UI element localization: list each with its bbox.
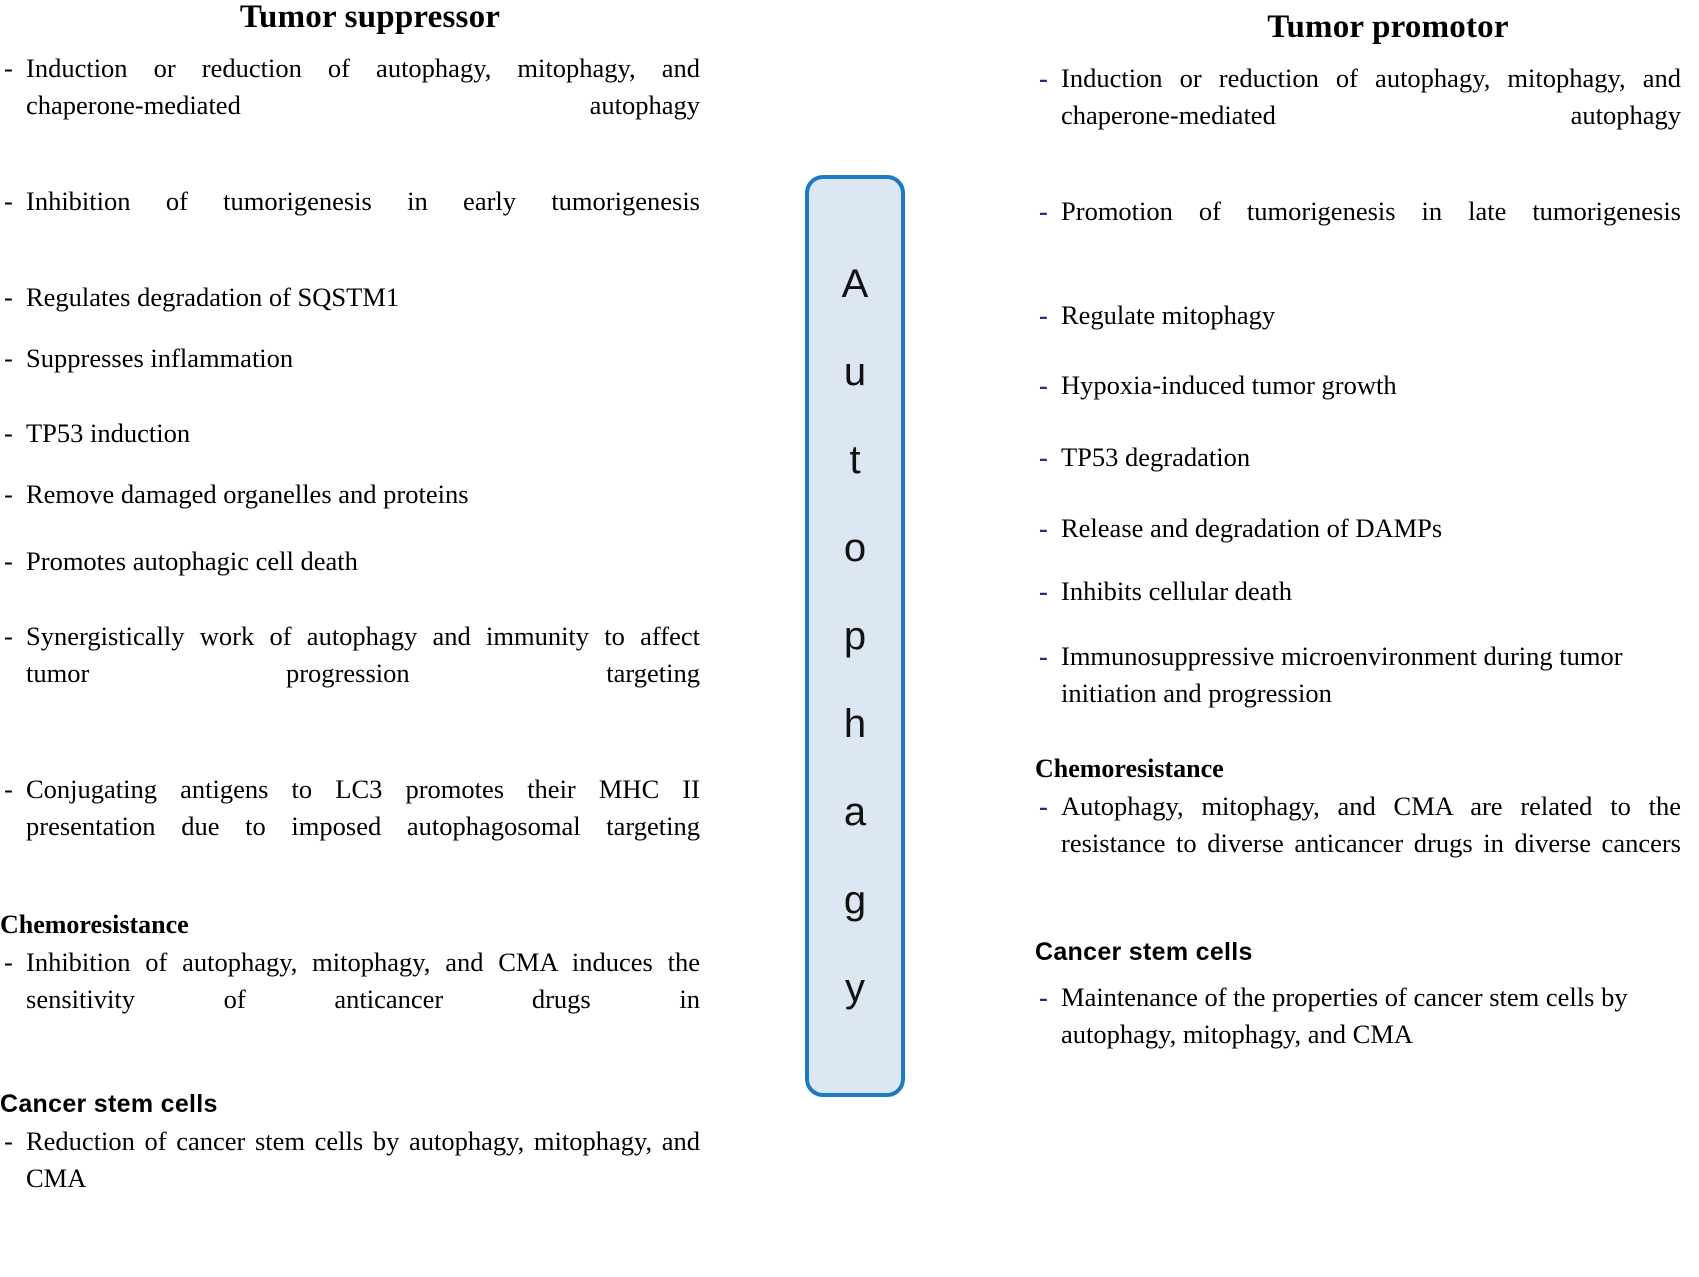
section-bullet-list: -Inhibition of autophagy, mitophagy, and… [0, 944, 700, 1055]
section-bullet-list: -Maintenance of the properties of cancer… [1035, 979, 1681, 1053]
bullet-dash-icon: - [1039, 367, 1048, 404]
bullet-item: -Inhibition of autophagy, mitophagy, and… [0, 944, 700, 1055]
tumor-suppressor-sections: Chemoresistance-Inhibition of autophagy,… [0, 908, 700, 1234]
tumor-promotor-title: Tumor promotor [1035, 8, 1699, 46]
bullet-text: Autophagy, mitophagy, and CMA are relate… [1061, 788, 1681, 899]
section-heading: Chemoresistance [1035, 752, 1681, 786]
bullet-text: Immunosuppressive microenvironment durin… [1061, 638, 1681, 712]
bullet-dash-icon: - [1039, 297, 1048, 334]
autophagy-center-box: Autophagy [805, 175, 905, 1097]
bullet-dash-icon: - [1039, 788, 1048, 825]
tumor-suppressor-bullet-list: -Induction or reduction of autophagy, mi… [0, 50, 700, 882]
bullet-item: -TP53 degradation [1035, 439, 1681, 476]
autophagy-letter: o [844, 528, 866, 568]
bullet-dash-icon: - [1039, 439, 1048, 476]
bullet-dash-icon: - [4, 476, 13, 513]
bullet-item: -Synergistically work of autophagy and i… [0, 618, 700, 729]
bullet-item: -Autophagy, mitophagy, and CMA are relat… [1035, 788, 1681, 899]
bullet-text: Remove damaged organelles and proteins [26, 476, 700, 513]
bullet-item: -Promotes autophagic cell death [0, 543, 700, 580]
bullet-dash-icon: - [4, 543, 13, 580]
bullet-text: Induction or reduction of autophagy, mit… [1061, 60, 1681, 171]
autophagy-letter: t [849, 440, 860, 480]
section-heading: Cancer stem cells [0, 1087, 700, 1121]
bullet-text: Conjugating antigens to LC3 promotes the… [26, 771, 700, 882]
bullet-dash-icon: - [1039, 193, 1048, 230]
bullet-item: -Inhibits cellular death [1035, 573, 1681, 610]
autophagy-letter: y [845, 968, 865, 1008]
bullet-text: Hypoxia-induced tumor growth [1061, 367, 1681, 404]
bullet-text: Promotes autophagic cell death [26, 543, 700, 580]
bullet-dash-icon: - [4, 618, 13, 655]
bullet-text: Maintenance of the properties of cancer … [1061, 979, 1681, 1053]
bullet-dash-icon: - [4, 279, 13, 316]
bullet-item: -Regulate mitophagy [1035, 297, 1681, 334]
bullet-text: Regulate mitophagy [1061, 297, 1681, 334]
tumor-promotor-sections: Chemoresistance-Autophagy, mitophagy, an… [1035, 752, 1681, 1053]
bullet-text: Inhibits cellular death [1061, 573, 1681, 610]
autophagy-letter: p [844, 616, 866, 656]
autophagy-letter: u [844, 352, 866, 392]
bullet-item: -Regulates degradation of SQSTM1 [0, 279, 700, 316]
bullet-item: -TP53 induction [0, 415, 700, 452]
bullet-text: Regulates degradation of SQSTM1 [26, 279, 700, 316]
bullet-dash-icon: - [4, 415, 13, 452]
tumor-suppressor-column: Tumor suppressor -Induction or reduction… [0, 0, 720, 1234]
bullet-dash-icon: - [1039, 573, 1048, 610]
bullet-item: -Inhibition of tumorigenesis in early tu… [0, 183, 700, 257]
tumor-promotor-column: Tumor promotor -Induction or reduction o… [1035, 0, 1699, 1053]
bullet-dash-icon: - [4, 50, 13, 87]
bullet-dash-icon: - [1039, 638, 1048, 675]
bullet-text: Induction or reduction of autophagy, mit… [26, 50, 700, 161]
bullet-item: -Maintenance of the properties of cancer… [1035, 979, 1681, 1053]
bullet-item: -Conjugating antigens to LC3 promotes th… [0, 771, 700, 882]
bullet-text: Suppresses inflammation [26, 340, 700, 377]
bullet-text: TP53 induction [26, 415, 700, 452]
bullet-text: Synergistically work of autophagy and im… [26, 618, 700, 729]
bullet-dash-icon: - [4, 944, 13, 981]
bullet-item: -Reduction of cancer stem cells by autop… [0, 1123, 700, 1234]
bullet-item: -Promotion of tumorigenesis in late tumo… [1035, 193, 1681, 267]
tumor-suppressor-title: Tumor suppressor [0, 0, 720, 36]
bullet-item: -Induction or reduction of autophagy, mi… [1035, 60, 1681, 171]
tumor-promotor-bullet-list: -Induction or reduction of autophagy, mi… [1035, 60, 1681, 712]
bullet-text: Release and degradation of DAMPs [1061, 510, 1681, 547]
bullet-item: -Induction or reduction of autophagy, mi… [0, 50, 700, 161]
section-bullet-list: -Reduction of cancer stem cells by autop… [0, 1123, 700, 1234]
autophagy-letter: a [844, 792, 866, 832]
bullet-item: -Immunosuppressive microenvironment duri… [1035, 638, 1681, 712]
bullet-dash-icon: - [1039, 60, 1048, 97]
section-bullet-list: -Autophagy, mitophagy, and CMA are relat… [1035, 788, 1681, 899]
autophagy-letter: h [844, 704, 866, 744]
bullet-dash-icon: - [1039, 979, 1048, 1016]
bullet-text: TP53 degradation [1061, 439, 1681, 476]
bullet-dash-icon: - [4, 1123, 13, 1160]
bullet-dash-icon: - [4, 340, 13, 377]
bullet-item: -Release and degradation of DAMPs [1035, 510, 1681, 547]
section-heading: Chemoresistance [0, 908, 700, 942]
bullet-text: Inhibition of autophagy, mitophagy, and … [26, 944, 700, 1055]
bullet-dash-icon: - [4, 183, 13, 220]
bullet-dash-icon: - [4, 771, 13, 808]
bullet-text: Promotion of tumorigenesis in late tumor… [1061, 193, 1681, 267]
section-heading: Cancer stem cells [1035, 935, 1681, 969]
bullet-item: -Remove damaged organelles and proteins [0, 476, 700, 513]
autophagy-letter: g [844, 880, 866, 920]
bullet-item: -Suppresses inflammation [0, 340, 700, 377]
bullet-item: -Hypoxia-induced tumor growth [1035, 367, 1681, 404]
bullet-text: Inhibition of tumorigenesis in early tum… [26, 183, 700, 257]
autophagy-letter: A [842, 264, 869, 304]
bullet-text: Reduction of cancer stem cells by autoph… [26, 1123, 700, 1234]
bullet-dash-icon: - [1039, 510, 1048, 547]
